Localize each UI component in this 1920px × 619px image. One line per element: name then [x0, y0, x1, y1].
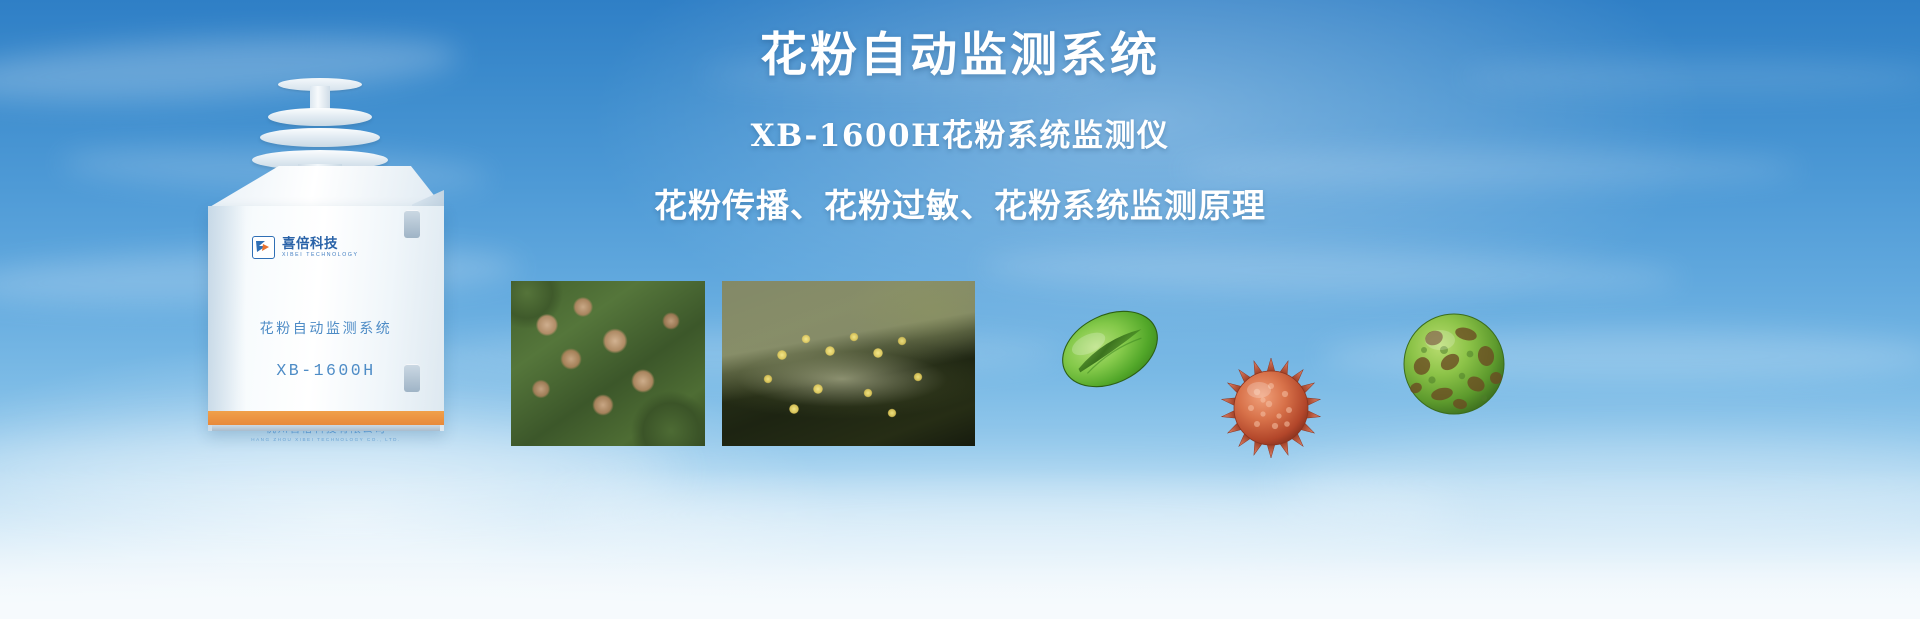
- brand-name-en: XIBEI TECHNOLOGY: [282, 253, 359, 258]
- cloud-wisp: [1460, 60, 1920, 94]
- device-company-name-en: HANG ZHOU XIBEI TECHNOLOGY CO., LTD.: [208, 437, 444, 442]
- device-base-stripe: [208, 411, 444, 425]
- page-tagline: 花粉传播、花粉过敏、花粉系统监测原理: [560, 179, 1360, 227]
- device-lid: [208, 166, 444, 208]
- inlet-disc: [268, 108, 372, 126]
- horizon-band: [0, 563, 1920, 619]
- device-latch-upper: [404, 210, 420, 238]
- brand-logo: 喜倍科技 XIBEI TECHNOLOGY: [252, 236, 359, 259]
- device-product-name: 花粉自动监测系统: [208, 318, 444, 338]
- cloud-wisp: [980, 244, 1681, 300]
- cloud-bank: [560, 470, 1460, 560]
- headline-block: 花粉自动监测系统 XB-1600H花粉系统监测仪 花粉传播、花粉过敏、花粉系统监…: [560, 28, 1360, 227]
- cypress-cones-photo: [511, 281, 705, 446]
- device-latch-lower: [404, 364, 420, 392]
- page-title: 花粉自动监测系统: [560, 28, 1360, 84]
- catkin-pollen-photo: [722, 281, 975, 446]
- device-foot: [212, 425, 440, 431]
- spiky-pollen-grain: [1219, 356, 1323, 460]
- inlet-disc: [260, 128, 380, 147]
- device-front-panel: 喜倍科技 XIBEI TECHNOLOGY 花粉自动监测系统 XB-1600H …: [208, 206, 444, 431]
- pollen-monitor-device: 喜倍科技 XIBEI TECHNOLOGY 花粉自动监测系统 XB-1600H …: [186, 78, 456, 428]
- page-subtitle: XB-1600H花粉系统监测仪: [560, 110, 1360, 155]
- cloud-bank: [1280, 440, 1920, 526]
- brand-name-cn: 喜倍科技: [282, 237, 359, 251]
- horizon-haze: [0, 469, 1920, 619]
- warty-pollen-grain: [1400, 310, 1508, 418]
- pollen-monitoring-banner: 喜倍科技 XIBEI TECHNOLOGY 花粉自动监测系统 XB-1600H …: [0, 0, 1920, 619]
- xibei-logo-icon: [252, 236, 275, 259]
- green-pollen-grain: [1048, 294, 1171, 403]
